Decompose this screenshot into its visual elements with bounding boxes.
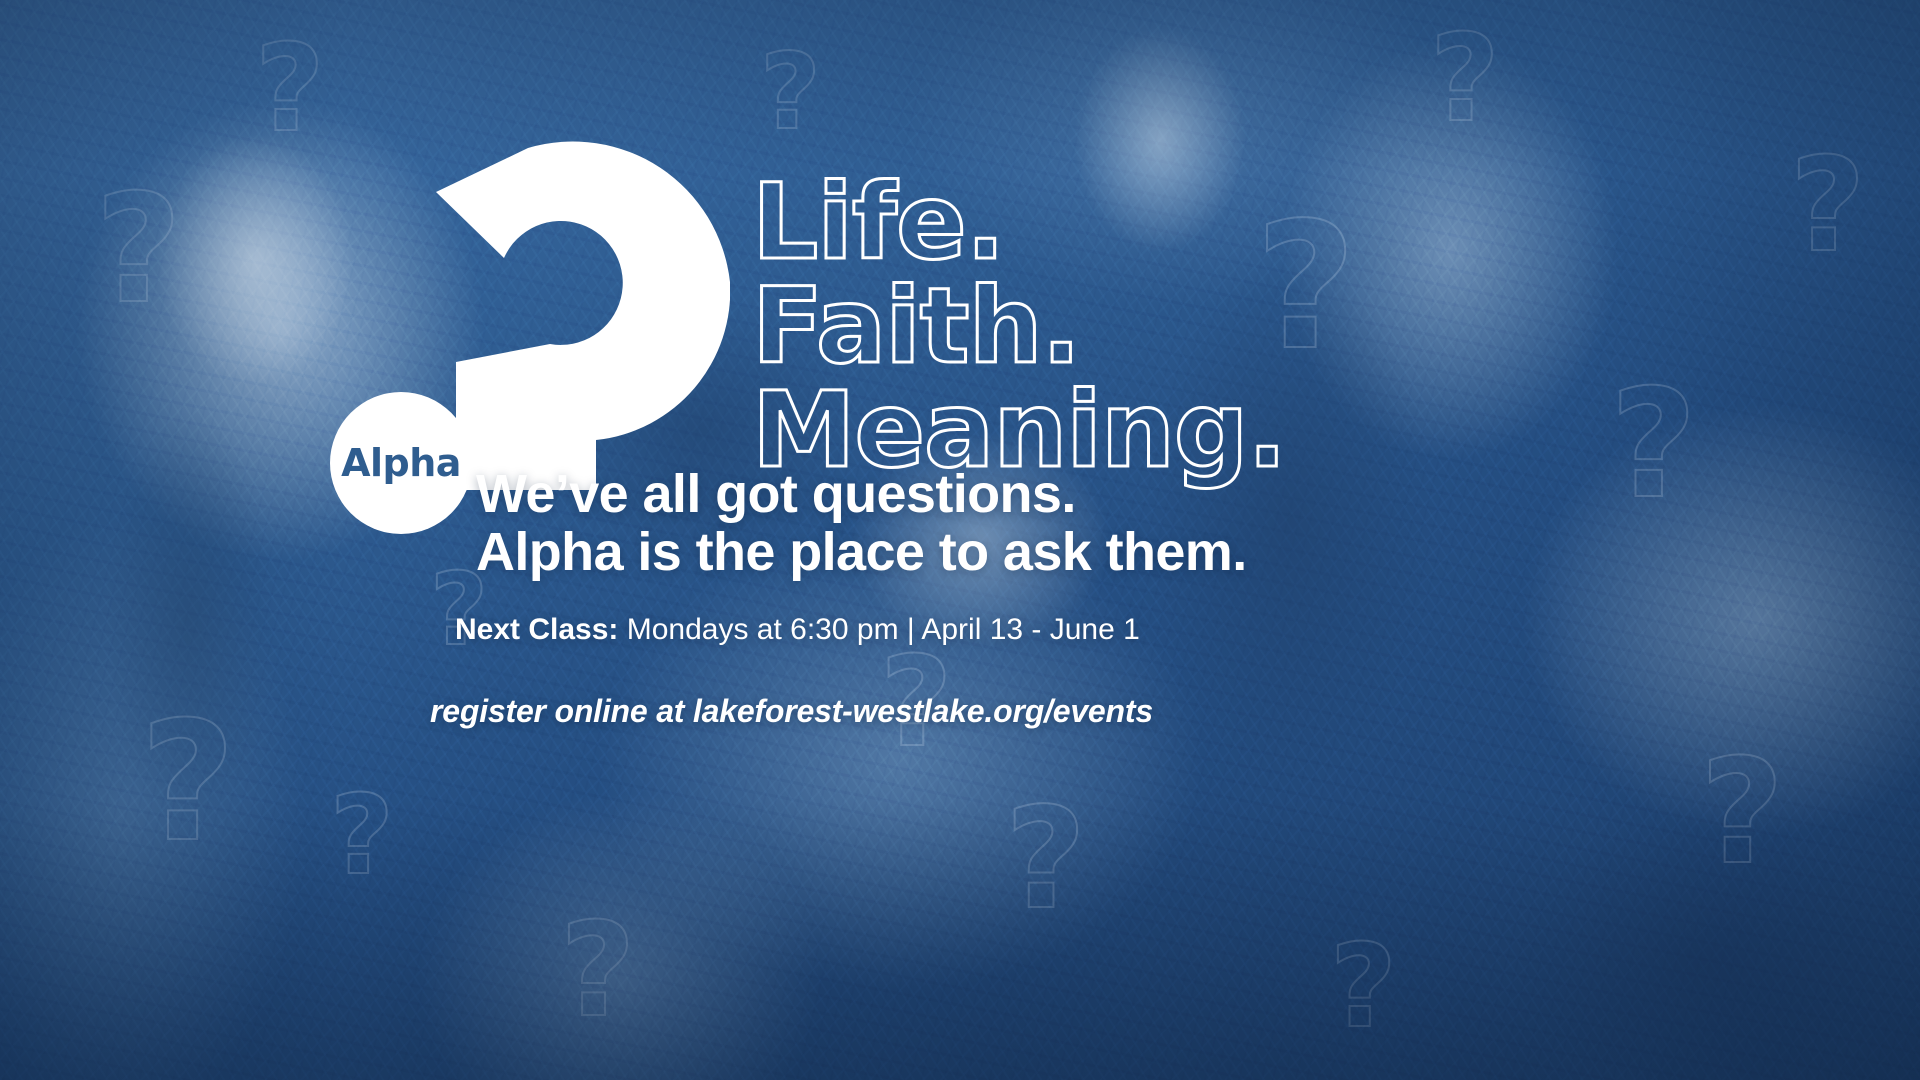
next-class-label: Next Class: xyxy=(455,613,618,646)
next-class-details: Next Class: Mondays at 6:30 pm | April 1… xyxy=(455,613,1140,647)
subheadline-line-2: Alpha is the place to ask them. xyxy=(476,523,1247,581)
next-class-value: Mondays at 6:30 pm | April 13 - June 1 xyxy=(618,613,1139,646)
alpha-wordmark-badge: Alpha xyxy=(330,392,472,534)
headline: Life. Faith. Meaning. xyxy=(752,172,1286,484)
registration-cta[interactable]: register online at lakeforest-westlake.o… xyxy=(430,693,1153,730)
subheadline: We’ve all got questions. Alpha is the pl… xyxy=(476,465,1247,582)
headline-line-faith: Faith. xyxy=(752,276,1286,378)
alpha-wordmark-text: Alpha xyxy=(341,441,461,485)
alpha-course-promo-graphic: ??????????????? Alpha Life. Faith. Meani… xyxy=(0,0,1920,1080)
subheadline-line-1: We’ve all got questions. xyxy=(476,465,1247,523)
headline-line-life: Life. xyxy=(752,172,1286,274)
